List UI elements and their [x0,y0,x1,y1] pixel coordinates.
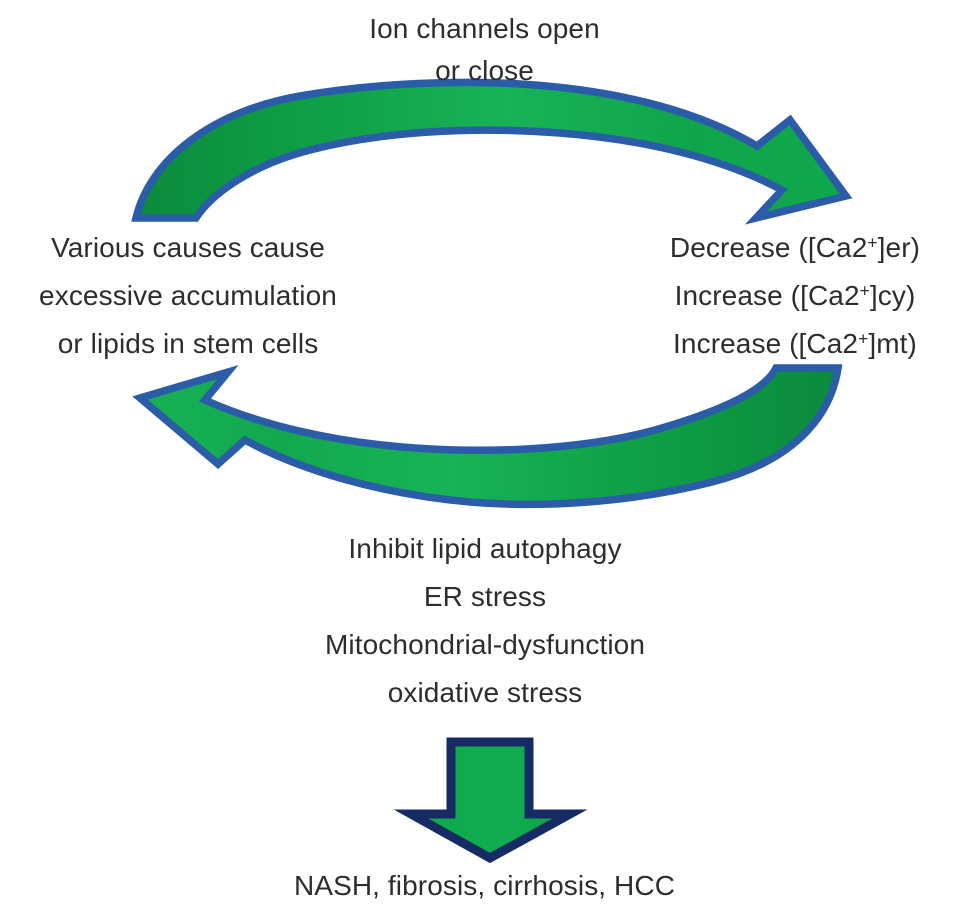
caption-outcomes: NASH, fibrosis, cirrhosis, HCC [0,866,969,906]
diagram-canvas: Ion channels open or close Various cause… [0,0,969,918]
top-arc-arrow [136,82,846,218]
text-block-causes-line-1: Various causes cause [18,224,358,272]
text-block-calcium: Decrease ([Ca2+]er) Increase ([Ca2+]cy) … [630,224,960,368]
text-block-causes-line-3: or lipids in stem cells [18,320,358,368]
cellular-stress-line-2: ER stress [185,573,785,621]
calcium-line-3-tail: ]mt) [868,328,917,359]
calcium-line-1-charge: + [867,233,877,253]
caption-ion-channels-line-2: or close [0,50,969,92]
caption-outcomes-text: NASH, fibrosis, cirrhosis, HCC [0,866,969,906]
calcium-line-2-verb: Increase ([Ca2 [675,280,860,311]
caption-ion-channels-line-1: Ion channels open [0,8,969,50]
calcium-line-3-verb: Increase ([Ca2 [673,328,858,359]
text-block-calcium-line-2: Increase ([Ca2+]cy) [630,272,960,320]
text-block-causes-line-2: excessive accumulation [18,272,358,320]
top-arc-arrow-shape [136,82,846,218]
arrow-graphics-layer [0,0,969,918]
calcium-line-2-charge: + [860,281,870,301]
calcium-line-3-charge: + [858,329,868,349]
cellular-stress-line-3: Mitochondrial-dysfunction [185,621,785,669]
calcium-line-1-tail: ]er) [878,232,920,263]
cellular-stress-line-1: Inhibit lipid autophagy [185,525,785,573]
cellular-stress-line-4: oxidative stress [185,669,785,717]
calcium-line-1-verb: Decrease ([Ca2 [670,232,867,263]
down-arrow [411,742,570,858]
calcium-line-2-tail: ]cy) [870,280,916,311]
bottom-arc-arrow [140,368,838,504]
text-block-causes: Various causes cause excessive accumulat… [18,224,358,368]
text-block-cellular-stress: Inhibit lipid autophagy ER stress Mitoch… [185,525,785,717]
down-arrow-shape [411,742,570,858]
bottom-arc-arrow-shape [140,368,838,504]
text-block-calcium-line-3: Increase ([Ca2+]mt) [630,320,960,368]
text-block-calcium-line-1: Decrease ([Ca2+]er) [630,224,960,272]
caption-ion-channels: Ion channels open or close [0,8,969,92]
